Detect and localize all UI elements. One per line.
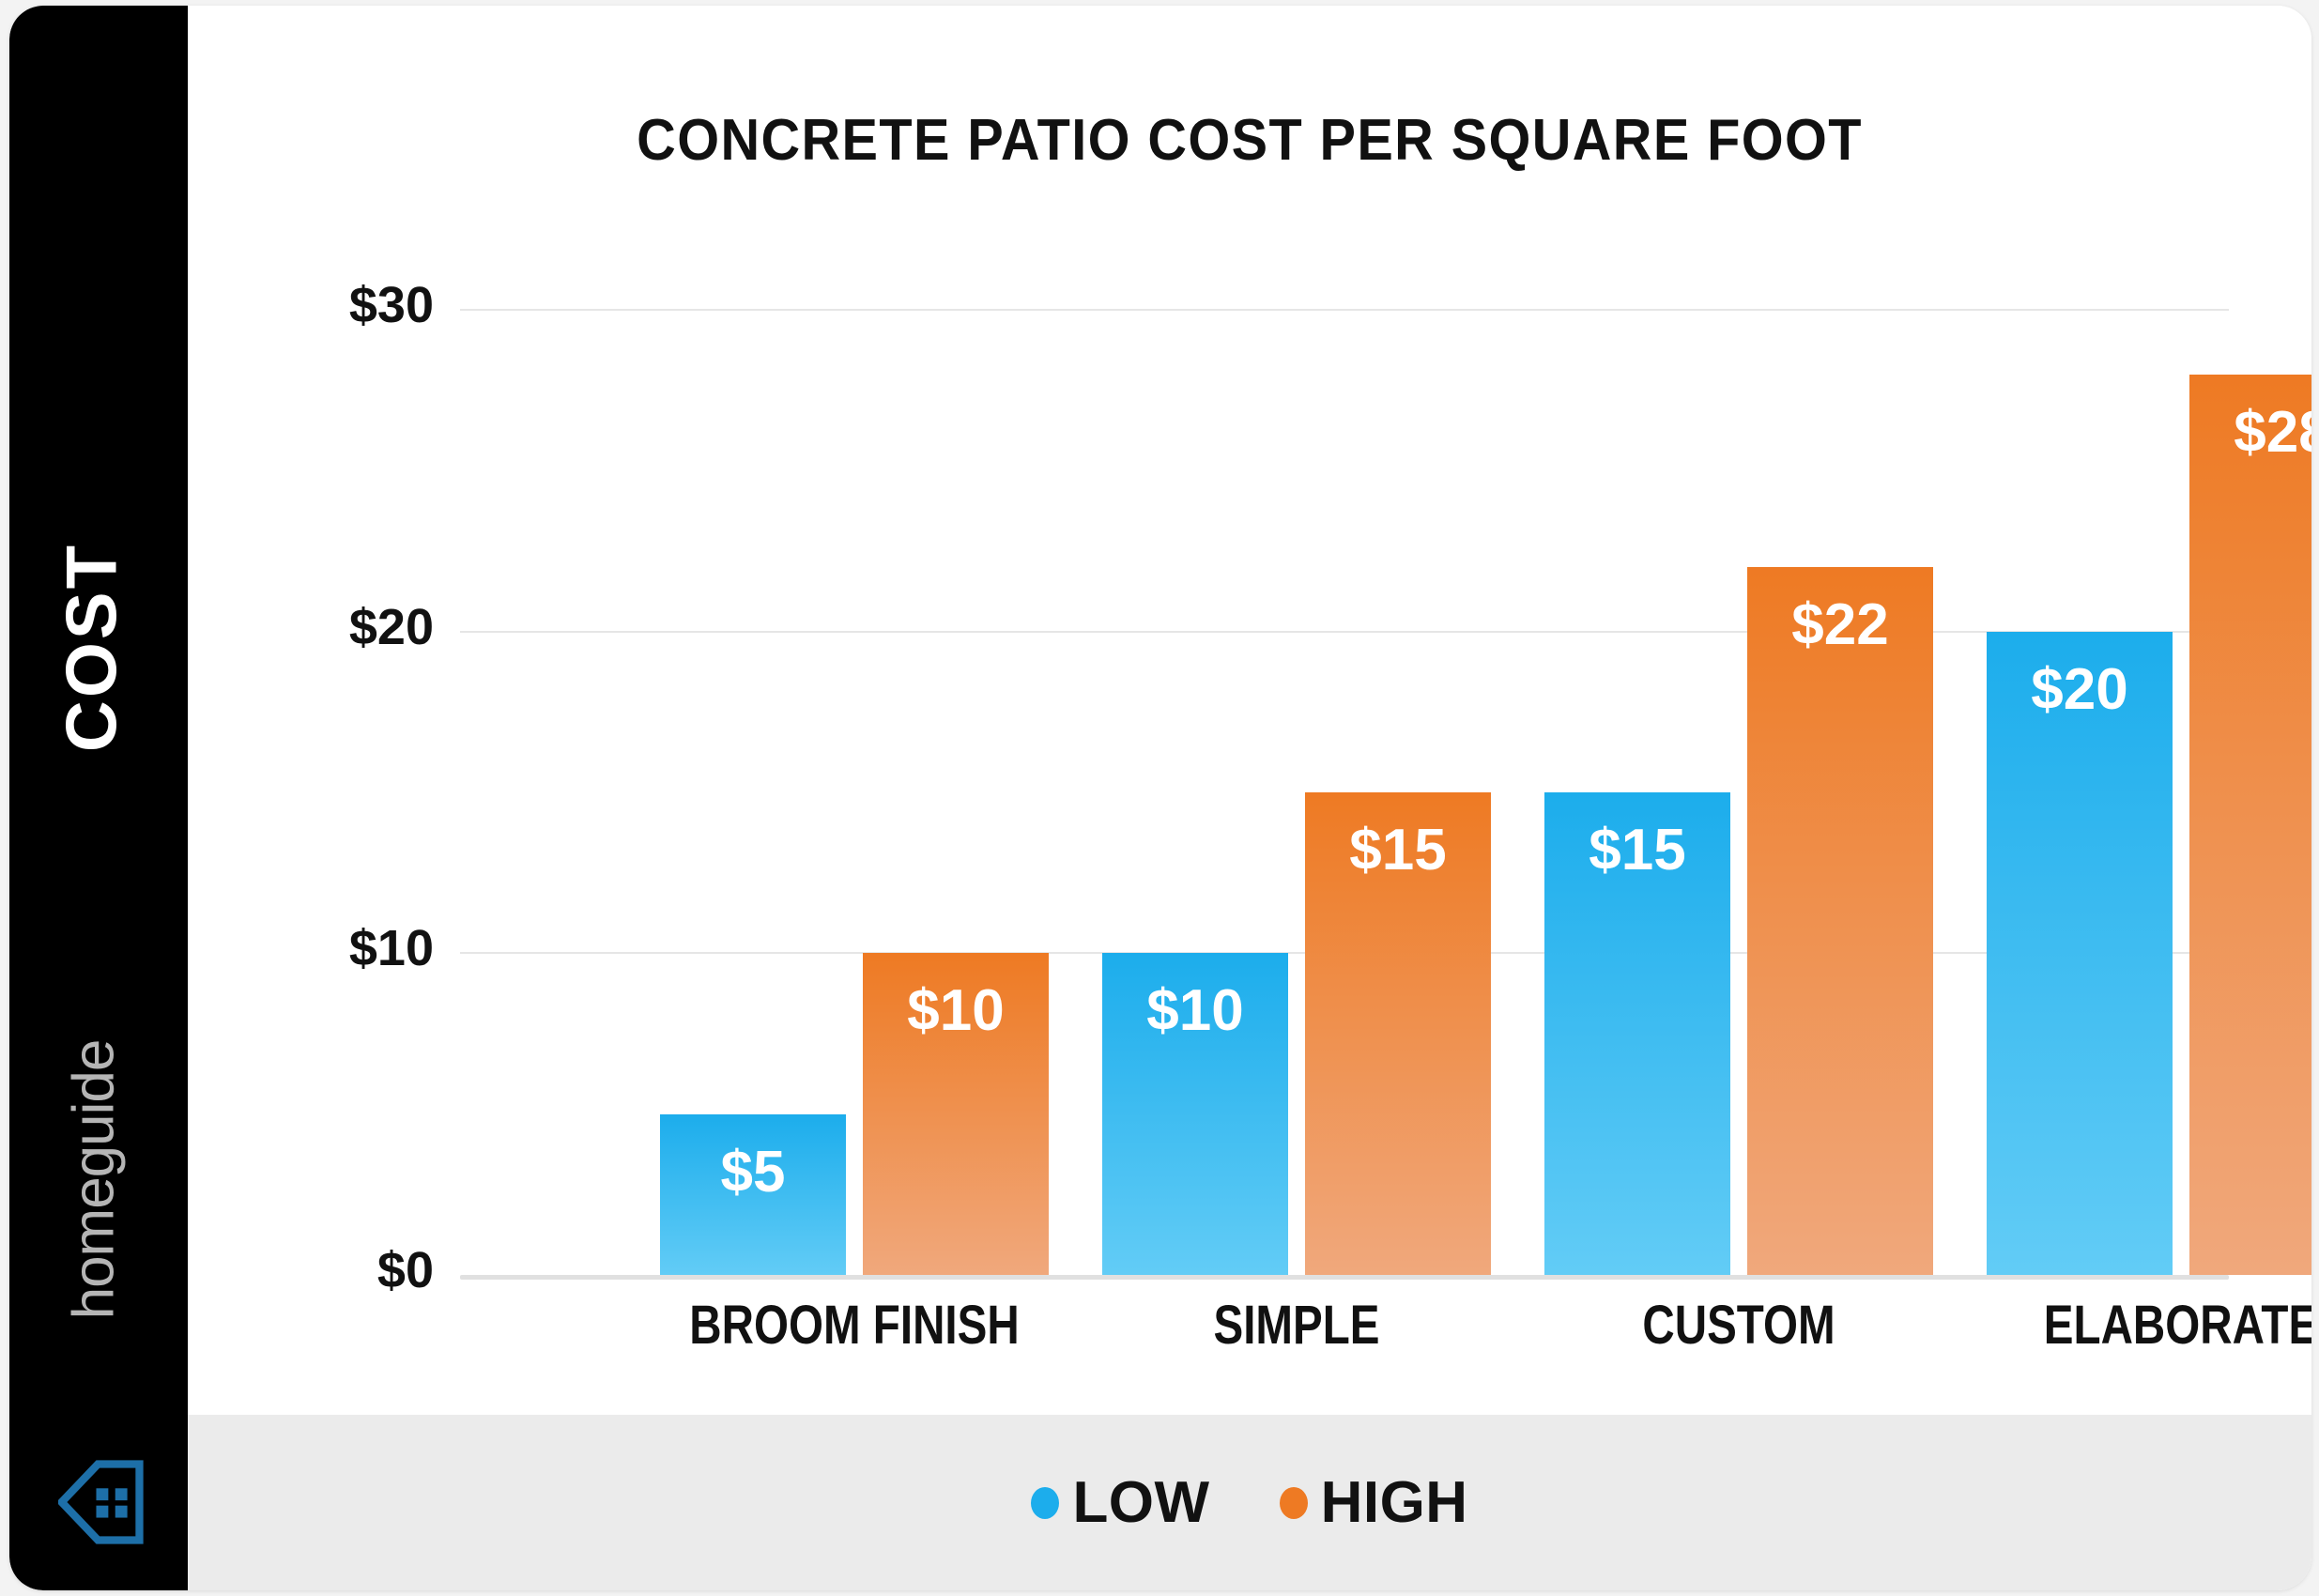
legend-swatch-icon	[1031, 1487, 1059, 1519]
bar-high-2[interactable]: $22	[1747, 567, 1933, 1275]
bar-high-0[interactable]: $10	[863, 953, 1049, 1275]
plot-area: CONCRETE PATIO COST PER SQUARE FOOT $0$1…	[188, 6, 2311, 1590]
bar-value-label: $5	[660, 1139, 846, 1205]
x-axis-line	[460, 1275, 2229, 1280]
bar-low-1[interactable]: $10	[1102, 953, 1288, 1275]
legend-label: LOW	[1072, 1469, 1209, 1536]
plot-canvas: $0$10$20$30$5$10BROOM FINISH$10$15SIMPLE…	[188, 6, 2311, 1415]
homeguide-house-icon	[58, 1459, 145, 1545]
chart-legend: LOWHIGH	[188, 1415, 2311, 1590]
y-axis-tick-label: $20	[190, 598, 434, 656]
brand-wordmark: homeguide	[61, 983, 128, 1377]
bar-value-label: $15	[1544, 817, 1730, 883]
bar-value-label: $20	[1987, 656, 2173, 723]
gridline	[460, 631, 2229, 633]
chart-card: COST homeguide CONCRETE PATIO COST PER S…	[9, 6, 2311, 1590]
chart-page: COST homeguide CONCRETE PATIO COST PER S…	[0, 0, 2319, 1596]
bar-low-3[interactable]: $20	[1987, 632, 2173, 1275]
x-axis-category-label: ELABORATE	[1999, 1294, 2311, 1357]
bar-value-label: $15	[1305, 817, 1491, 883]
bar-high-1[interactable]: $15	[1305, 792, 1491, 1275]
y-axis-tick-label: $30	[190, 276, 434, 334]
y-axis-tick-label: $10	[190, 919, 434, 977]
bar-low-0[interactable]: $5	[660, 1114, 846, 1275]
y-axis-tick-label: $0	[190, 1241, 434, 1299]
bar-value-label: $10	[1102, 977, 1288, 1044]
legend-swatch-icon	[1280, 1487, 1308, 1519]
y-axis-title: COST	[52, 479, 133, 817]
bar-high-3[interactable]: $28	[2189, 375, 2311, 1275]
x-axis-category-label: CUSTOM	[1557, 1294, 1922, 1357]
legend-item-high[interactable]: HIGH	[1280, 1469, 1468, 1536]
gridline	[460, 309, 2229, 311]
legend-label: HIGH	[1321, 1469, 1468, 1536]
bar-value-label: $22	[1747, 591, 1933, 658]
bar-value-label: $28	[2189, 399, 2311, 466]
x-axis-category-label: BROOM FINISH	[672, 1294, 1037, 1357]
bar-low-2[interactable]: $15	[1544, 792, 1730, 1275]
sidebar-rail: COST homeguide	[9, 6, 188, 1590]
legend-item-low[interactable]: LOW	[1031, 1469, 1209, 1536]
x-axis-category-label: SIMPLE	[1114, 1294, 1480, 1357]
bar-value-label: $10	[863, 977, 1049, 1044]
